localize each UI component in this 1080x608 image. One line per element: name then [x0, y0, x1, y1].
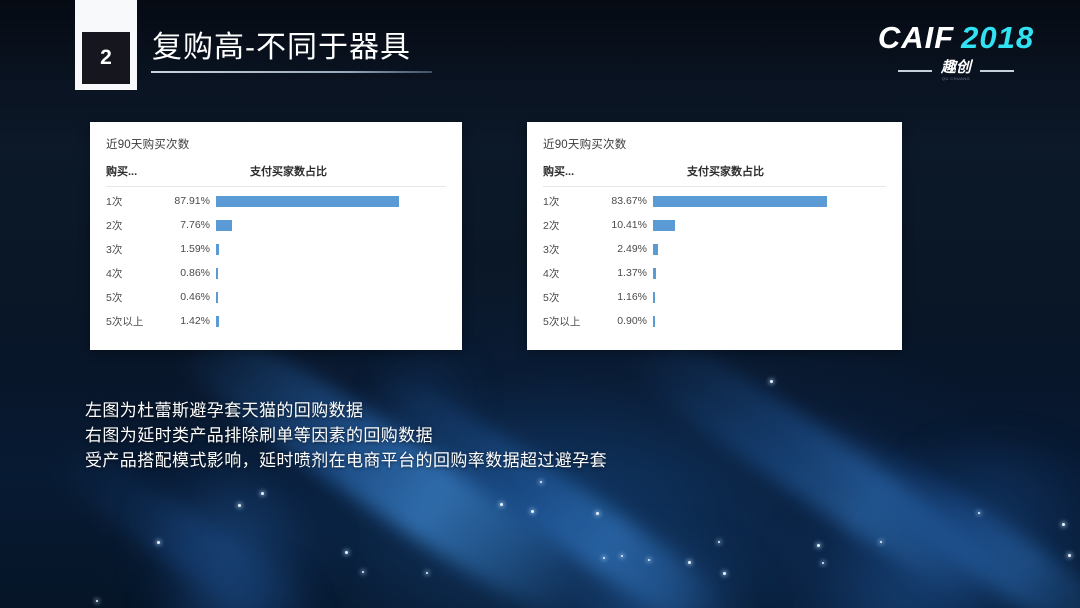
star-dot [345, 551, 348, 554]
glow-circle [760, 498, 1060, 608]
chart-row-value: 0.46% [164, 291, 216, 303]
glow-circle [880, 440, 1080, 590]
title-divider [151, 71, 432, 73]
star-dot [880, 541, 882, 543]
chart-bar [216, 244, 219, 255]
star-dot [540, 481, 542, 483]
logo-chinese-text: 趣创 [941, 60, 971, 75]
logo-dash-left-icon [898, 70, 932, 72]
chart-bar [216, 316, 219, 327]
chart-row-category: 5次 [106, 290, 164, 305]
star-dot [261, 492, 264, 495]
chart-row-category: 1次 [106, 194, 164, 209]
caif-logo: CAIF2018 趣创 QU CHUANG [866, 22, 1046, 81]
chart-row-category: 5次以上 [543, 314, 601, 329]
star-dot [362, 571, 364, 573]
chart-bar-track [653, 237, 886, 261]
chart-bar [216, 292, 218, 303]
chart-bar-track [653, 213, 886, 237]
chart-bar-track [653, 189, 886, 213]
star-dot [1062, 523, 1065, 526]
chart-bar [653, 196, 827, 207]
body-text-line: 右图为延时类产品排除刷单等因素的回购数据 [85, 423, 607, 448]
logo-year-text: 2018 [961, 20, 1034, 55]
star-dot [718, 541, 720, 543]
star-dot [621, 555, 623, 557]
chart-row-category: 5次 [543, 290, 601, 305]
logo-dash-right-icon [980, 70, 1014, 72]
star-dot [723, 572, 726, 575]
chart-row: 4次0.86% [106, 261, 446, 285]
star-dot [1068, 554, 1071, 557]
chart-row: 1次87.91% [106, 189, 446, 213]
column-header-value: 支付买家数占比 [601, 163, 886, 179]
chart-row-value: 0.86% [164, 267, 216, 279]
star-dot [96, 600, 98, 602]
column-header-category: 购买... [543, 163, 601, 179]
chart-bar [653, 220, 675, 231]
logo-subtitle-text: QU CHUANG [941, 76, 971, 81]
body-text-block: 左图为杜蕾斯避孕套天猫的回购数据 右图为延时类产品排除刷单等因素的回购数据 受产… [85, 398, 607, 473]
chart-row: 1次83.67% [543, 189, 886, 213]
chart-row-value: 1.37% [601, 267, 653, 279]
chart-row-category: 4次 [106, 266, 164, 281]
chart-rows: 1次83.67%2次10.41%3次2.49%4次1.37%5次1.16%5次以… [543, 189, 886, 333]
chart-row-value: 1.16% [601, 291, 653, 303]
chart-bar [216, 220, 232, 231]
chart-bar-track [216, 237, 446, 261]
chart-title: 近90天购买次数 [543, 136, 886, 152]
chart-row-value: 0.90% [601, 315, 653, 327]
star-dot [238, 504, 241, 507]
column-header-category: 购买... [106, 163, 164, 179]
chart-row-category: 2次 [543, 218, 601, 233]
chart-bar-track [216, 213, 446, 237]
chart-row-category: 5次以上 [106, 314, 164, 329]
light-streak [617, 316, 1013, 608]
chart-bar-track [653, 309, 886, 333]
chart-row-category: 2次 [106, 218, 164, 233]
chart-row-category: 4次 [543, 266, 601, 281]
slide-number-badge: 2 [75, 0, 137, 90]
glow-circle [520, 536, 780, 608]
star-dot [978, 512, 980, 514]
chart-row: 5次1.16% [543, 285, 886, 309]
chart-bar [216, 196, 399, 207]
star-dot [822, 562, 824, 564]
light-streak [777, 393, 1080, 608]
chart-row-value: 87.91% [164, 195, 216, 207]
chart-row-category: 1次 [543, 194, 601, 209]
logo-name-text: CAIF [878, 20, 954, 55]
chart-row-value: 1.42% [164, 315, 216, 327]
chart-row-category: 3次 [106, 242, 164, 257]
logo-wordmark: CAIF2018 [866, 22, 1046, 53]
chart-bar-track [653, 261, 886, 285]
star-dot [596, 512, 599, 515]
chart-title: 近90天购买次数 [106, 136, 446, 152]
chart-row: 3次2.49% [543, 237, 886, 261]
star-dot [603, 557, 605, 559]
star-dot [500, 503, 503, 506]
chart-row: 2次7.76% [106, 213, 446, 237]
chart-row: 3次1.59% [106, 237, 446, 261]
chart-row-value: 2.49% [601, 243, 653, 255]
chart-row: 5次以上0.90% [543, 309, 886, 333]
chart-row: 2次10.41% [543, 213, 886, 237]
slide-canvas: 2 复购高-不同于器具 CAIF2018 趣创 QU CHUANG 近90天购买… [0, 0, 1080, 608]
chart-row-category: 3次 [543, 242, 601, 257]
glow-circle [130, 470, 340, 608]
column-header-value: 支付买家数占比 [164, 163, 446, 179]
chart-bar [653, 268, 656, 279]
chart-bar [653, 292, 655, 303]
page-title: 复购高-不同于器具 [152, 22, 411, 66]
chart-row: 4次1.37% [543, 261, 886, 285]
star-dot [770, 380, 773, 383]
chart-bar-track [653, 285, 886, 309]
chart-bar [216, 268, 218, 279]
chart-panel-left: 近90天购买次数 购买... 支付买家数占比 1次87.91%2次7.76%3次… [90, 122, 462, 350]
light-streak [349, 355, 740, 608]
chart-row-value: 83.67% [601, 195, 653, 207]
star-dot [817, 544, 820, 547]
chart-bar [653, 244, 658, 255]
chart-row: 5次以上1.42% [106, 309, 446, 333]
chart-bar-track [216, 189, 446, 213]
body-text-line: 受产品搭配模式影响，延时喷剂在电商平台的回购率数据超过避孕套 [85, 448, 607, 473]
chart-bar [653, 316, 655, 327]
star-dot [648, 559, 650, 561]
glow-circle [140, 560, 320, 608]
chart-column-header: 购买... 支付买家数占比 [106, 163, 446, 187]
body-text-line: 左图为杜蕾斯避孕套天猫的回购数据 [85, 398, 607, 423]
chart-rows: 1次87.91%2次7.76%3次1.59%4次0.86%5次0.46%5次以上… [106, 189, 446, 333]
chart-row: 5次0.46% [106, 285, 446, 309]
chart-bar-track [216, 285, 446, 309]
star-dot [531, 510, 534, 513]
chart-panel-right: 近90天购买次数 购买... 支付买家数占比 1次83.67%2次10.41%3… [527, 122, 902, 350]
star-dot [426, 572, 428, 574]
logo-chinese-block: 趣创 QU CHUANG [941, 60, 971, 81]
chart-bar-track [216, 309, 446, 333]
chart-row-value: 7.76% [164, 219, 216, 231]
slide-number-value: 2 [82, 32, 130, 84]
chart-column-header: 购买... 支付买家数占比 [543, 163, 886, 187]
chart-row-value: 10.41% [601, 219, 653, 231]
star-dot [688, 561, 691, 564]
chart-bar-track [216, 261, 446, 285]
chart-row-value: 1.59% [164, 243, 216, 255]
star-dot [157, 541, 160, 544]
logo-subrow: 趣创 QU CHUANG [866, 60, 1046, 81]
